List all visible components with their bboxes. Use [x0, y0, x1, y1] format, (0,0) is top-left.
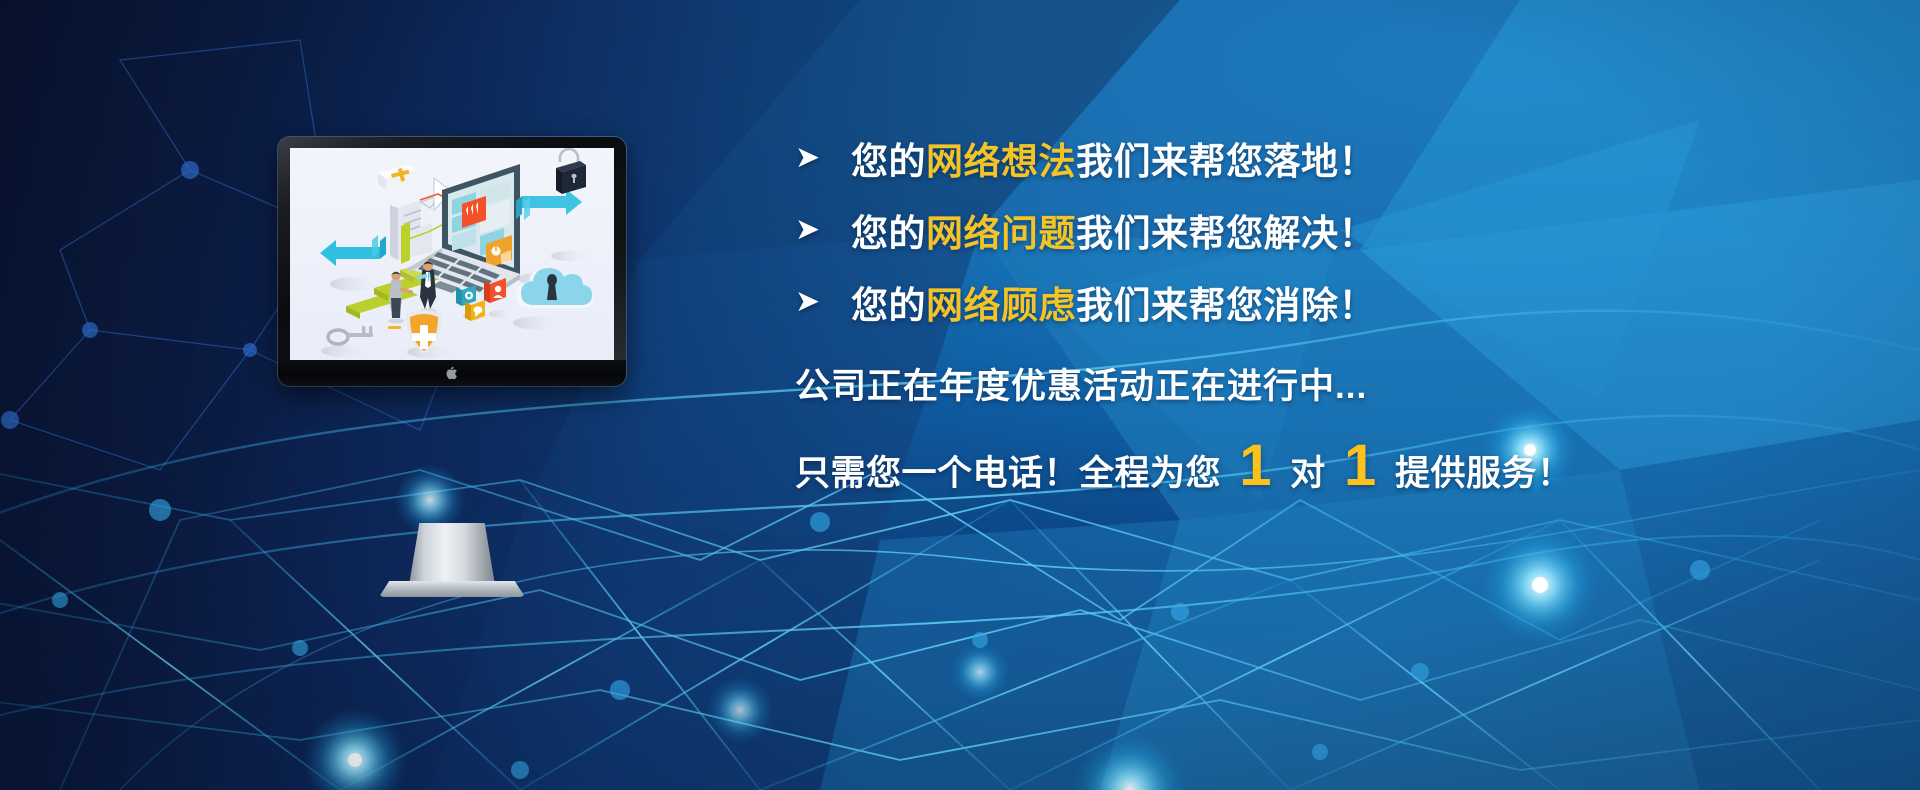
bullet-suffix: 我们来帮您解决！ — [1076, 213, 1376, 254]
bullet-highlight: 网络问题 — [926, 213, 1076, 254]
arrow-right-triangle-icon: ➤ — [795, 287, 851, 317]
green-bar — [401, 222, 410, 264]
apple-logo-icon — [446, 366, 458, 380]
monitor-chin — [278, 360, 626, 386]
bullet-line: 您的网络想法我们来帮您落地！ — [851, 131, 1376, 185]
promo-banner: ➤ 您的网络想法我们来帮您落地！ ➤ 您的网络问题我们来帮您解决！ ➤ 您的网络… — [0, 0, 1920, 790]
bullet-highlight: 网络想法 — [926, 141, 1076, 182]
callout-line: 只需您一个电话！全程为您 1 对 1 提供服务！ — [795, 443, 1815, 496]
marketing-copy-block: ➤ 您的网络想法我们来帮您落地！ ➤ 您的网络问题我们来帮您解决！ ➤ 您的网络… — [795, 128, 1815, 496]
bullet-suffix: 我们来帮您落地！ — [1076, 141, 1376, 182]
bullet-item: ➤ 您的网络顾虑我们来帮您消除！ — [795, 272, 1815, 332]
bullet-highlight: 网络顾虑 — [926, 285, 1076, 326]
bullet-line: 您的网络问题我们来帮您解决！ — [851, 203, 1376, 257]
isometric-network-service-scene — [290, 148, 614, 360]
apple-display-monitor — [278, 137, 626, 386]
callout-number-one-first: 1 — [1231, 443, 1280, 489]
arrow-right-triangle-icon: ➤ — [795, 143, 851, 173]
bullet-prefix: 您的 — [851, 285, 926, 326]
callout-part2: 对 — [1280, 445, 1336, 496]
bullet-item: ➤ 您的网络想法我们来帮您落地！ — [795, 128, 1815, 188]
monitor-stand-neck — [409, 523, 495, 585]
bullet-item: ➤ 您的网络问题我们来帮您解决！ — [795, 200, 1815, 260]
promo-line: 公司正在年度优惠活动正在进行中... — [795, 358, 1815, 409]
arrow-right-triangle-icon: ➤ — [795, 215, 851, 245]
callout-part1: 只需您一个电话！全程为您 — [795, 445, 1231, 496]
monitor-screen — [290, 148, 614, 360]
callout-part3: 提供服务！ — [1385, 445, 1573, 496]
callout-number-one-second: 1 — [1336, 443, 1385, 489]
bullet-prefix: 您的 — [851, 213, 926, 254]
bullet-suffix: 我们来帮您消除！ — [1076, 285, 1376, 326]
bullet-line: 您的网络顾虑我们来帮您消除！ — [851, 275, 1376, 329]
bullet-prefix: 您的 — [851, 141, 926, 182]
monitor-stand-base — [379, 581, 525, 597]
